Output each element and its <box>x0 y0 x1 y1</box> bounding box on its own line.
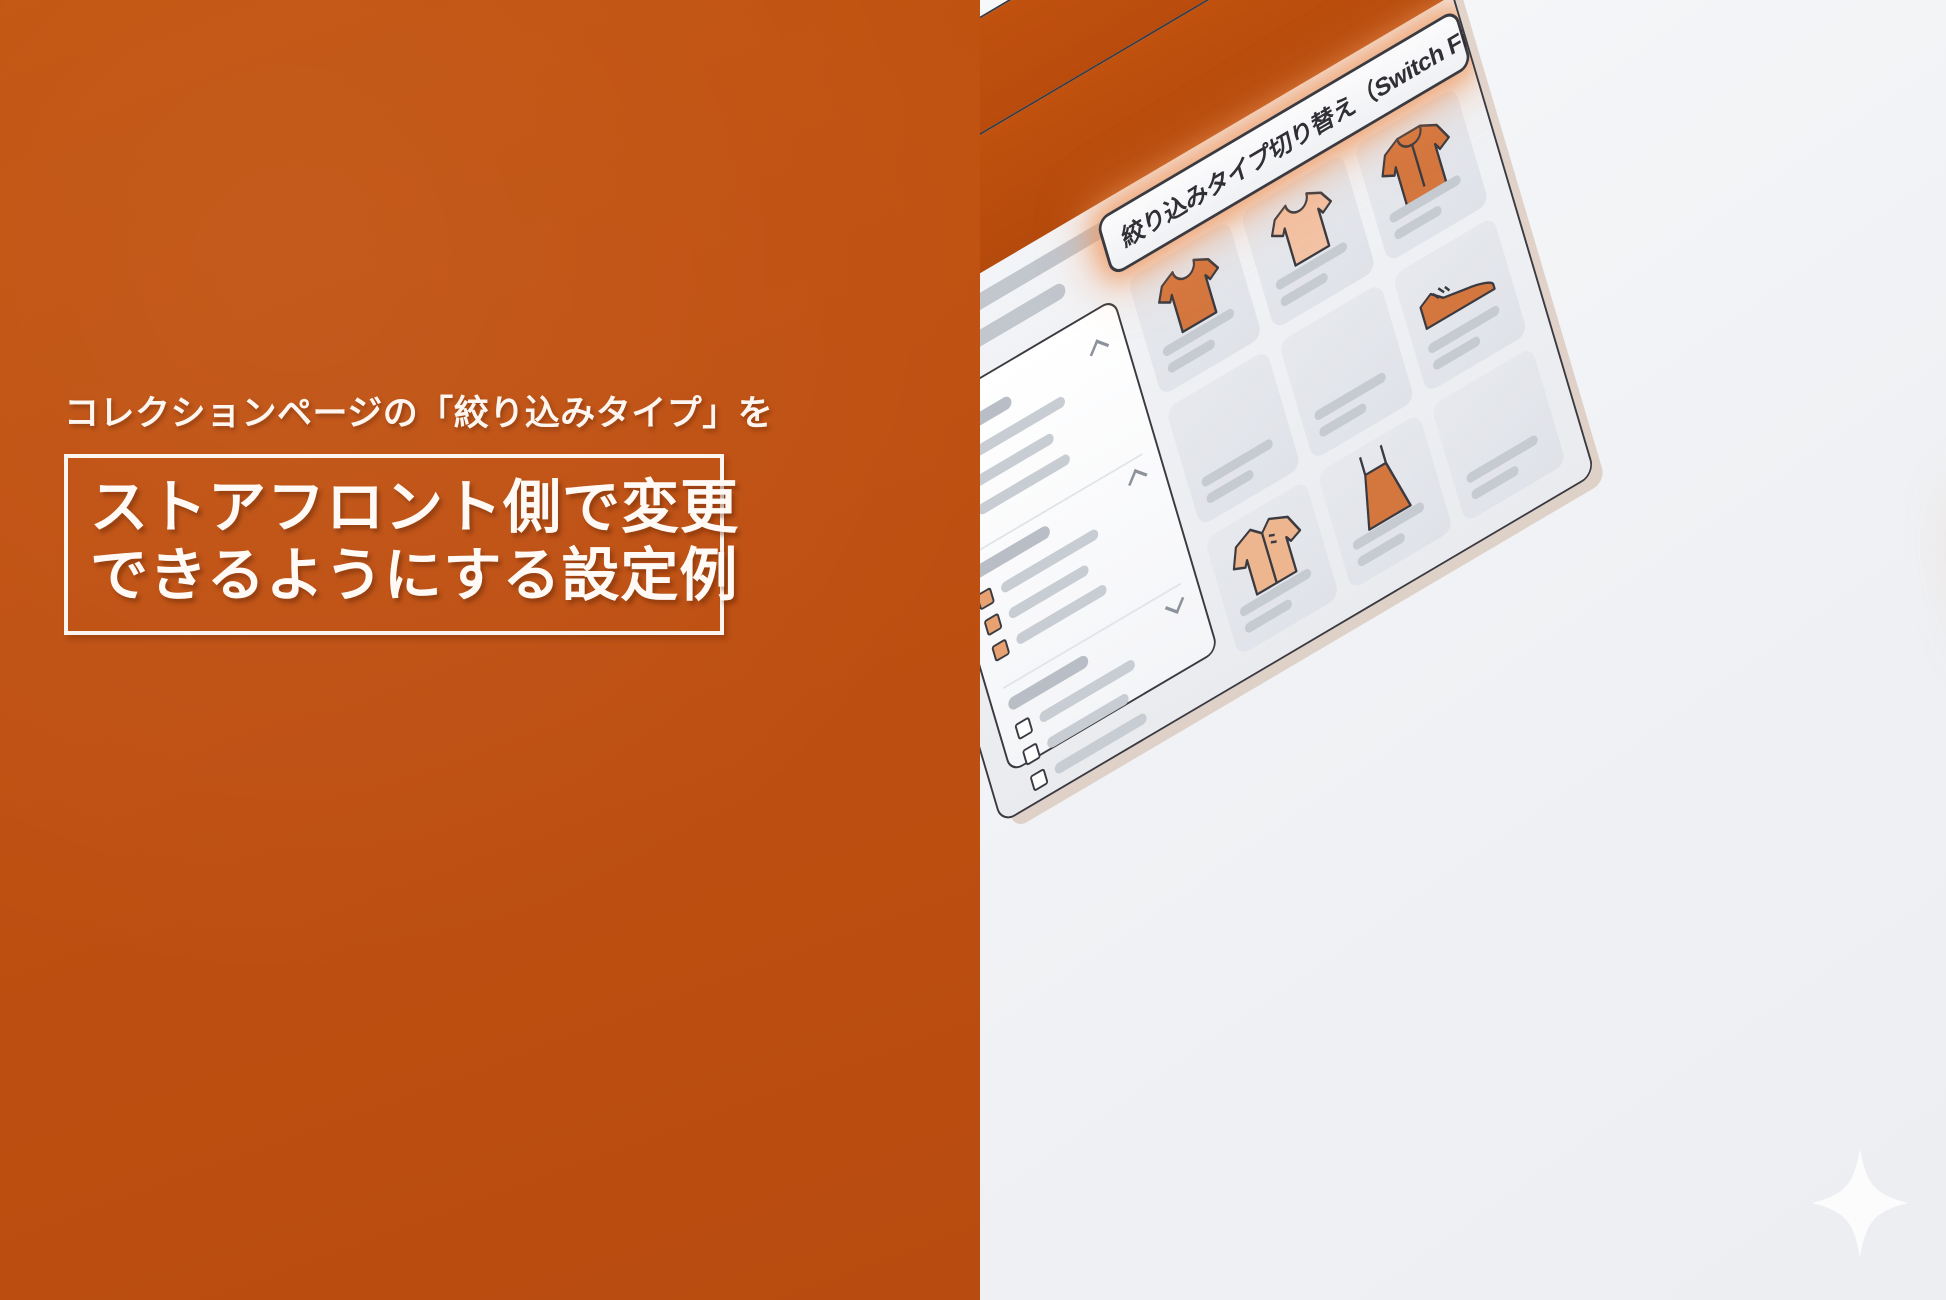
browser-body: 絞り込みタイプ切り替え（Switch Filter Type） <box>980 0 1596 824</box>
chevron-down-icon[interactable] <box>1165 593 1184 614</box>
checkbox[interactable] <box>1022 742 1041 766</box>
checkbox[interactable] <box>1014 716 1033 740</box>
checkbox-checked[interactable] <box>980 587 995 611</box>
chevron-up-icon[interactable] <box>1090 339 1109 360</box>
title-line-2: できるようにする設定例 <box>90 542 698 610</box>
checkbox-checked[interactable] <box>983 612 1002 636</box>
sparkle-decoration <box>1812 1148 1908 1258</box>
headline-block: コレクションページの「絞り込みタイプ」を ストアフロント側で変更 できるようにす… <box>64 392 764 635</box>
poster-canvas: コレクションページの「絞り込みタイプ」を ストアフロント側で変更 できるようにす… <box>0 0 1946 1300</box>
title-line-1: ストアフロント側で変更 <box>90 474 698 542</box>
chevron-up-icon[interactable] <box>1128 469 1147 490</box>
right-illustration-panel: 絞り込みタイプ切り替え（Switch Filter Type） <box>980 0 1946 1300</box>
kicker-text: コレクションページの「絞り込みタイプ」を <box>64 392 764 436</box>
checkbox-checked[interactable] <box>991 638 1010 662</box>
left-orange-panel: コレクションページの「絞り込みタイプ」を ストアフロント側で変更 できるようにす… <box>0 0 980 1300</box>
browser-window-mock: 絞り込みタイプ切り替え（Switch Filter Type） <box>980 0 1596 824</box>
checkbox[interactable] <box>1037 793 1056 817</box>
title-box: ストアフロント側で変更 できるようにする設定例 <box>64 454 724 635</box>
checkbox[interactable] <box>1029 768 1048 792</box>
